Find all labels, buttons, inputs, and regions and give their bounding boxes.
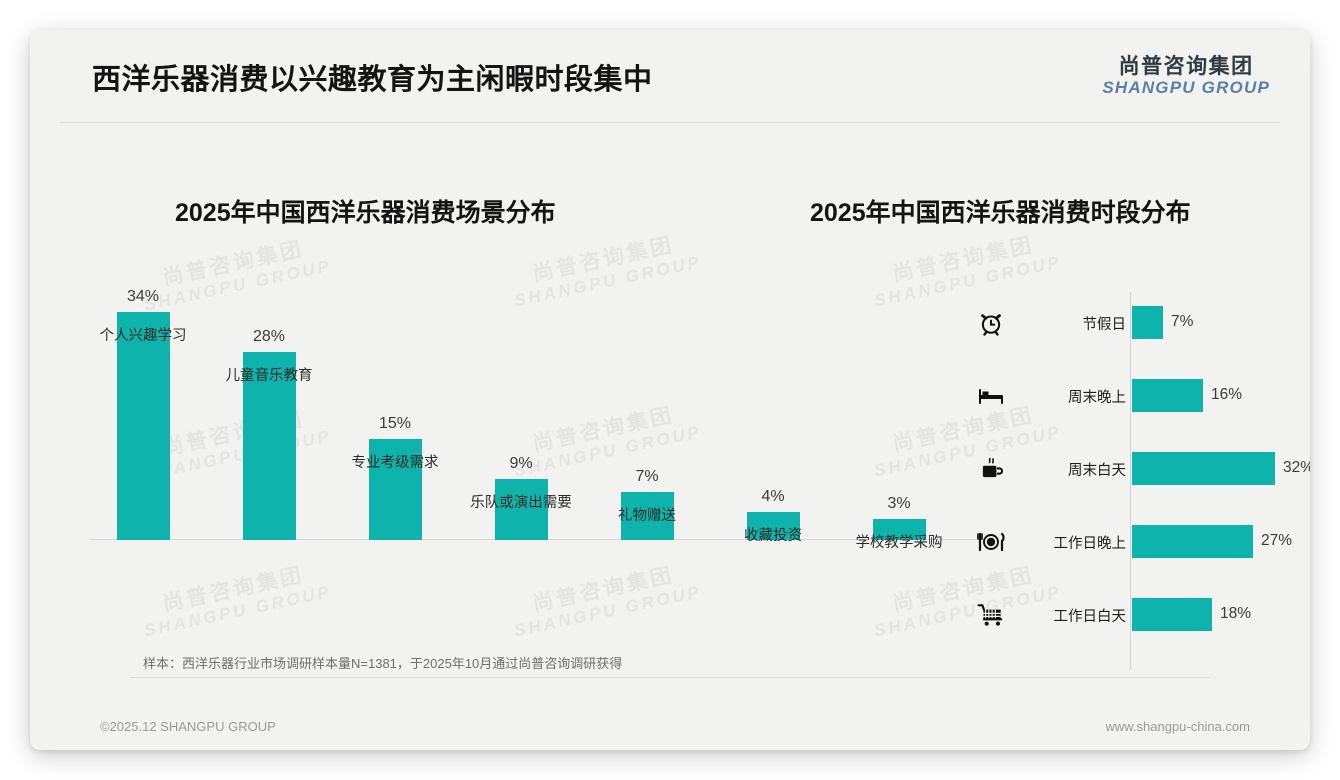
cutlery-icon: [974, 525, 1008, 559]
column-category-label: 乐队或演出需要: [452, 491, 590, 512]
bar-value-label: 7%: [1171, 313, 1193, 331]
source-note: 样本：西洋乐器行业市场调研样本量N=1381，于2025年10月通过尚普咨询调研…: [143, 653, 622, 672]
brand-name-en: SHANGPU GROUP: [1102, 79, 1270, 97]
shopping-cart-icon: [974, 598, 1008, 632]
bar-category-label: 工作日白天: [1014, 605, 1126, 626]
column-category-label: 专业考级需求: [326, 451, 464, 472]
slide-card: 尚普咨询集团 SHANGPU GROUP 尚普咨询集团 SHANGPU GROU…: [30, 30, 1310, 750]
right-chart-title: 2025年中国西洋乐器消费时段分布: [810, 193, 1191, 229]
source-divider: [130, 677, 1210, 678]
bar-value-label: 27%: [1261, 532, 1292, 550]
bar-category-label: 节假日: [1014, 313, 1126, 334]
column-bar[interactable]: [117, 312, 170, 540]
horizontal-bar[interactable]: [1132, 306, 1163, 339]
bar-row[interactable]: 工作日晚上 27%: [960, 521, 1290, 561]
column-group[interactable]: 15% 专业考级需求: [332, 439, 458, 540]
column-group[interactable]: 28% 儿童音乐教育: [206, 352, 332, 540]
column-group[interactable]: 34% 个人兴趣学习: [80, 312, 206, 540]
column-value-label: 28%: [206, 328, 332, 346]
horizontal-bar[interactable]: [1132, 525, 1253, 558]
column-value-label: 15%: [332, 415, 458, 433]
column-category-label: 收藏投资: [704, 524, 842, 545]
page-title: 西洋乐器消费以兴趣教育为主闲暇时段集中: [92, 56, 653, 98]
column-group[interactable]: 9% 乐队或演出需要: [458, 479, 584, 540]
bar-category-label: 周末晚上: [1014, 386, 1126, 407]
coffee-mug-icon: [974, 452, 1008, 486]
column-value-label: 4%: [710, 488, 836, 506]
column-group[interactable]: 4% 收藏投资: [710, 512, 836, 540]
column-category-label: 个人兴趣学习: [74, 324, 212, 345]
footer-copyright: ©2025.12 SHANGPU GROUP: [100, 719, 276, 734]
bar-value-label: 18%: [1220, 605, 1251, 623]
column-value-label: 7%: [584, 468, 710, 486]
column-group[interactable]: 3% 学校教学采购: [836, 519, 962, 540]
consumption-scenario-column-chart: 34% 个人兴趣学习 28% 儿童音乐教育 15% 专业考级需求 9% 乐队或演…: [60, 270, 990, 630]
bed-icon: [974, 379, 1008, 413]
brand-logo: 尚普咨询集团 SHANGPU GROUP: [1102, 56, 1270, 97]
bar-row[interactable]: 工作日白天 18%: [960, 594, 1290, 634]
bar-value-label: 32%: [1283, 459, 1310, 477]
column-value-label: 3%: [836, 495, 962, 513]
column-value-label: 34%: [80, 288, 206, 306]
alarm-clock-icon: [974, 306, 1008, 340]
bar-value-label: 16%: [1211, 386, 1242, 404]
bar-category-label: 周末白天: [1014, 459, 1126, 480]
footer-bar: ©2025.12 SHANGPU GROUP www.shangpu-china…: [30, 706, 1310, 750]
bar-row[interactable]: 周末白天 32%: [960, 448, 1290, 488]
column-category-label: 儿童音乐教育: [200, 364, 338, 385]
header-divider: [60, 122, 1280, 123]
column-category-label: 学校教学采购: [830, 531, 968, 552]
horizontal-bar[interactable]: [1132, 452, 1275, 485]
left-chart-title: 2025年中国西洋乐器消费场景分布: [175, 193, 556, 229]
brand-name-cn: 尚普咨询集团: [1102, 56, 1270, 78]
column-value-label: 9%: [458, 455, 584, 473]
horizontal-bar[interactable]: [1132, 598, 1212, 631]
bar-category-label: 工作日晚上: [1014, 532, 1126, 553]
footer-website-link[interactable]: www.shangpu-china.com: [1105, 719, 1250, 734]
column-group[interactable]: 7% 礼物赠送: [584, 492, 710, 540]
bar-row[interactable]: 节假日 7%: [960, 302, 1290, 342]
header: 西洋乐器消费以兴趣教育为主闲暇时段集中 尚普咨询集团 SHANGPU GROUP: [30, 30, 1310, 122]
bar-row[interactable]: 周末晚上 16%: [960, 375, 1290, 415]
consumption-timeslot-bar-chart: 节假日 7% 周末晚上 16%: [960, 280, 1290, 670]
column-category-label: 礼物赠送: [578, 504, 716, 525]
horizontal-bar[interactable]: [1132, 379, 1203, 412]
